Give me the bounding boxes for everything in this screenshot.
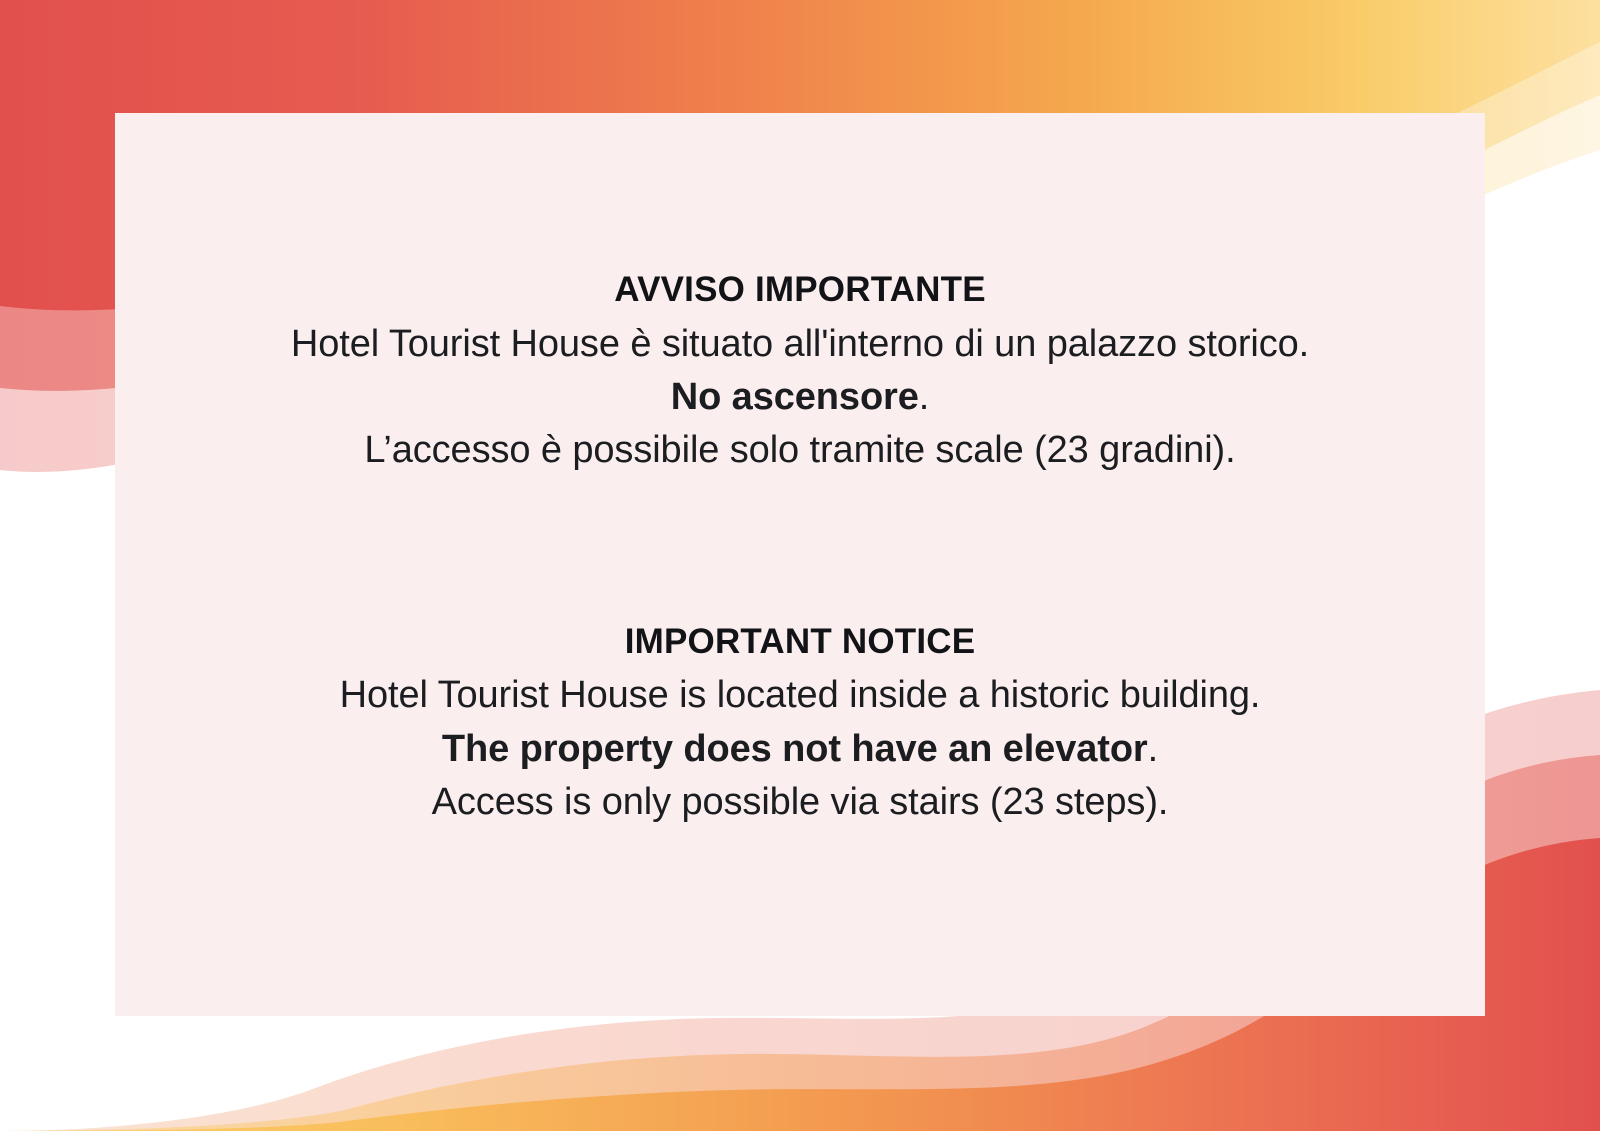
english-line-2: The property does not have an elevator.: [115, 724, 1485, 775]
italian-line-2-period: .: [919, 376, 929, 418]
italian-line-3: L’accesso è possibile solo tramite scale…: [115, 425, 1485, 476]
english-line-1: Hotel Tourist House is located inside a …: [115, 670, 1485, 721]
english-line-2-period: .: [1148, 728, 1158, 770]
notice-block-english: IMPORTANT NOTICE Hotel Tourist House is …: [115, 620, 1485, 829]
notice-block-italian: AVVISO IMPORTANTE Hotel Tourist House è …: [115, 268, 1485, 477]
notice-graphic: AVVISO IMPORTANTE Hotel Tourist House è …: [0, 0, 1600, 1131]
italian-line-2: No ascensore.: [115, 372, 1485, 423]
italian-heading: AVVISO IMPORTANTE: [115, 268, 1485, 313]
english-line-2-bold: The property does not have an elevator: [442, 728, 1148, 770]
italian-line-1: Hotel Tourist House è situato all'intern…: [115, 319, 1485, 370]
english-line-3: Access is only possible via stairs (23 s…: [115, 777, 1485, 828]
english-heading: IMPORTANT NOTICE: [115, 620, 1485, 665]
italian-line-2-bold: No ascensore: [671, 376, 919, 418]
notice-card: AVVISO IMPORTANTE Hotel Tourist House è …: [115, 113, 1485, 1016]
